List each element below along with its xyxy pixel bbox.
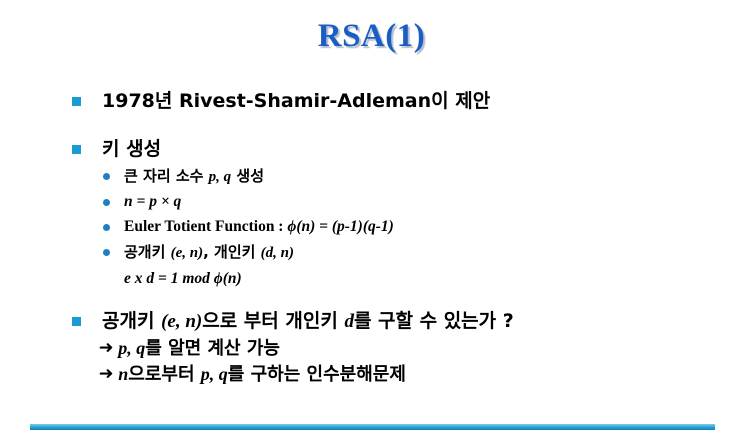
slide: RSA(1) 1978년 Rivest-Shamir-Adleman이 제안 키…	[0, 0, 743, 443]
arrow-2-middle: 으로부터	[128, 364, 201, 385]
bullet-2-label: 키 생성	[102, 136, 161, 162]
bullet-3-math-2: d	[344, 311, 354, 332]
bullet-item-1: 1978년 Rivest-Shamir-Adleman이 제안	[0, 88, 743, 114]
key-equation-line: e x d = 1 mod ϕ(n)	[0, 268, 743, 290]
page-title: RSA(1)	[0, 18, 743, 55]
square-bullet-icon	[72, 145, 81, 154]
bullet-3-middle: 으로 부터 개인키	[202, 310, 344, 332]
dot-bullet-icon	[103, 224, 110, 231]
sub-bullet-1-prefix: 큰 자리 소수	[124, 167, 209, 185]
arrow-2-label: n으로부터 p, q를 구하는 인수분해문제	[118, 362, 406, 387]
arrow-1-label: p, q를 알면 계산 가능	[118, 336, 280, 361]
right-arrow-icon: ➜	[99, 362, 114, 387]
public-key-math: (e, n)	[171, 245, 204, 261]
spacer	[0, 114, 743, 136]
bullet-3-prefix: 공개키	[102, 310, 161, 332]
arrow-item-2: ➜ n으로부터 p, q를 구하는 인수분해문제	[0, 362, 743, 387]
spacer	[0, 290, 743, 308]
bullet-item-2: 키 생성	[0, 136, 743, 162]
sub-bullet-2-label: n = p × q	[124, 191, 181, 213]
square-bullet-icon	[72, 97, 81, 106]
sub-bullet-1-label: 큰 자리 소수 p, q 생성	[124, 165, 264, 188]
bullet-1-label: 1978년 Rivest-Shamir-Adleman이 제안	[102, 88, 490, 114]
arrow-1-text: 를 알면 계산 가능	[145, 338, 280, 359]
phi-symbol-icon: ϕ	[214, 270, 223, 287]
phi-symbol-icon: ϕ	[287, 218, 296, 235]
public-key-label: 공개키	[124, 243, 171, 261]
dot-bullet-icon	[103, 173, 110, 180]
sub-bullet-4-label: 공개키 (e, n), 개인키 (d, n)	[124, 241, 294, 264]
sub-bullet-item-3: Euler Totient Function : ϕ(n) = (p-1)(q-…	[0, 216, 743, 238]
dot-bullet-icon	[103, 199, 110, 206]
euler-totient-label: Euler Totient Function :	[124, 218, 287, 235]
sub-bullet-1-suffix: 생성	[231, 167, 264, 185]
sub-bullet-item-2: n = p × q	[0, 191, 743, 213]
key-equation-part-a: e x d = 1 mod	[124, 270, 214, 287]
arrow-2-math-1: n	[118, 364, 128, 384]
bullet-3-math-1: (e, n)	[161, 311, 202, 332]
bullet-3-label: 공개키 (e, n)으로 부터 개인키 d를 구할 수 있는가 ?	[102, 308, 514, 335]
bullet-item-3: 공개키 (e, n)으로 부터 개인키 d를 구할 수 있는가 ?	[0, 308, 743, 335]
private-key-label: , 개인키	[203, 243, 261, 261]
footer-divider	[30, 424, 715, 430]
private-key-math: (d, n)	[261, 245, 294, 261]
right-arrow-icon: ➜	[99, 336, 114, 361]
sub-bullet-item-1: 큰 자리 소수 p, q 생성	[0, 165, 743, 188]
arrow-2-text: 를 구하는 인수분해문제	[228, 364, 406, 385]
slide-body: 1978년 Rivest-Shamir-Adleman이 제안 키 생성 큰 자…	[0, 88, 743, 387]
sub-bullet-1-math: p, q	[209, 169, 232, 185]
sub-bullet-item-4: 공개키 (e, n), 개인키 (d, n)	[0, 241, 743, 264]
square-bullet-icon	[72, 317, 81, 326]
bullet-3-suffix: 를 구할 수 있는가 ?	[354, 310, 514, 332]
arrow-item-1: ➜ p, q를 알면 계산 가능	[0, 336, 743, 361]
arrow-2-math-2: p, q	[201, 364, 228, 384]
key-equation-part-b: (n)	[223, 270, 242, 287]
euler-totient-math: (n) = (p-1)(q-1)	[296, 218, 394, 235]
dot-bullet-icon	[103, 249, 110, 256]
sub-bullet-3-label: Euler Totient Function : ϕ(n) = (p-1)(q-…	[124, 216, 394, 238]
arrow-1-math: p, q	[118, 338, 145, 358]
